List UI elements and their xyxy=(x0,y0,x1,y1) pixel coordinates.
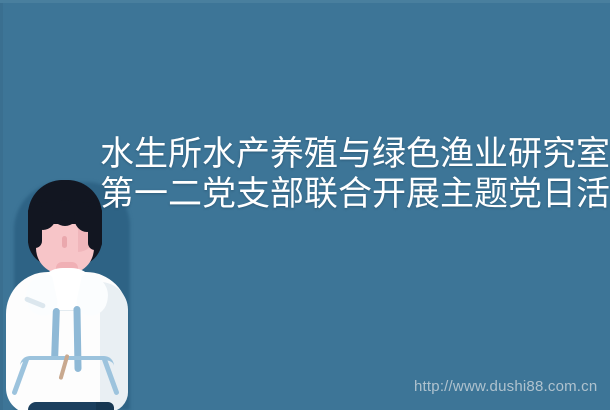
top-edge-band xyxy=(0,0,610,3)
headline-line-1: 水生所水产养殖与绿色渔业研究室 xyxy=(100,134,610,174)
image-canvas: 水生所水产养殖与绿色渔业研究室 第一二党支部联合开展主题党日活 http://w… xyxy=(0,0,610,410)
watermark-url: http://www.dushi88.com.cn xyxy=(414,378,597,396)
hair-sideburn-left xyxy=(28,206,42,248)
headline-line-2: 第一二党支部联合开展主题党日活 xyxy=(100,174,610,214)
nose xyxy=(62,236,67,248)
headline: 水生所水产养殖与绿色渔业研究室 第一二党支部联合开展主题党日活 xyxy=(100,134,610,214)
pants-shading xyxy=(96,402,114,410)
